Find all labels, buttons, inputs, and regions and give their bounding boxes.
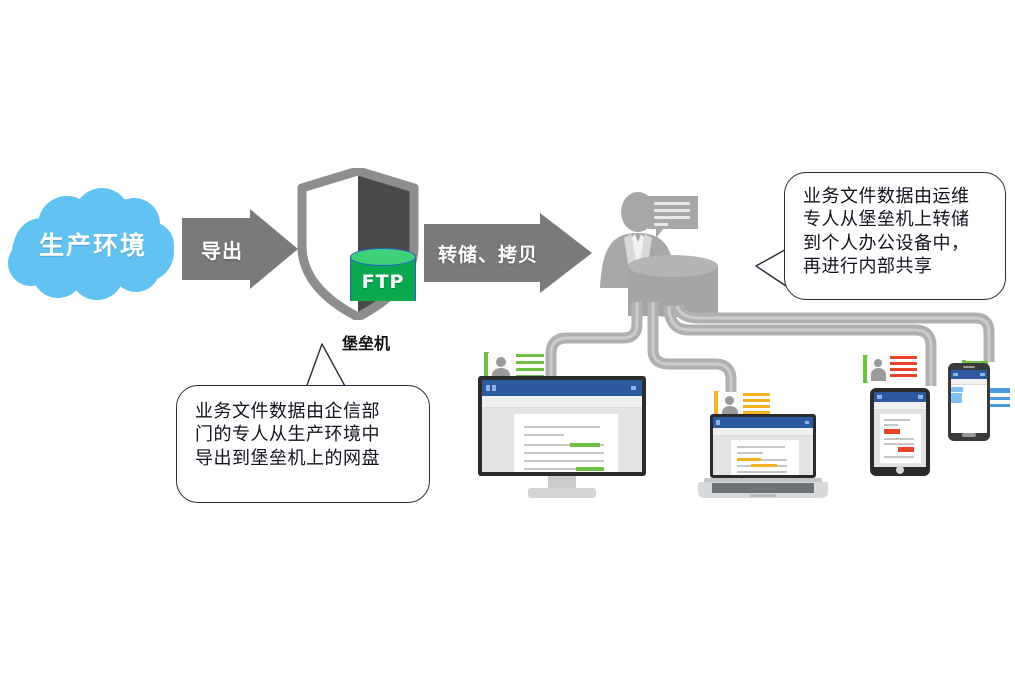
phone-screen bbox=[951, 370, 987, 433]
window-title-bar bbox=[713, 417, 813, 428]
tablet-bezel bbox=[870, 388, 930, 476]
phone-bezel bbox=[948, 363, 990, 441]
window-toolbar bbox=[713, 428, 813, 436]
tablet[interactable] bbox=[870, 388, 930, 476]
callout-line: 专人从堡垒机上转储 bbox=[803, 208, 993, 231]
callout-line: 门的专人从生产环境中 bbox=[195, 423, 413, 446]
arrow-export: 导出 bbox=[182, 218, 298, 280]
ftp-storage-icon: FTP bbox=[350, 248, 416, 310]
tablet-screen bbox=[874, 392, 926, 467]
document-page bbox=[514, 414, 618, 472]
diagram-title: 堡垒机文件转储共享流程图 bbox=[0, 0, 1, 1]
window-title-bar bbox=[874, 392, 926, 402]
phone-home-button[interactable] bbox=[962, 433, 976, 437]
laptop-screen bbox=[713, 417, 813, 475]
contact-card-red bbox=[863, 355, 917, 383]
window-content bbox=[874, 410, 926, 467]
window-title-bar bbox=[482, 380, 642, 396]
arrow-transfer-copy-label: 转储、拷贝 bbox=[424, 224, 552, 282]
diagram-canvas: 堡垒机文件转储共享流程图 生产环境 导出 FTP 堡垒机 bbox=[0, 0, 1015, 675]
window-toolbar bbox=[874, 402, 926, 410]
window-content bbox=[713, 436, 813, 475]
smartphone[interactable] bbox=[948, 363, 990, 441]
callout-line: 导出到堡垒机上的网盘 bbox=[195, 447, 413, 470]
laptop-keyboard[interactable] bbox=[712, 483, 814, 493]
laptop-bezel bbox=[710, 414, 816, 478]
phone-speaker bbox=[963, 366, 975, 368]
production-environment-label: 生产环境 bbox=[8, 188, 178, 300]
monitor-bezel bbox=[478, 376, 646, 476]
arrow-export-label: 导出 bbox=[182, 218, 262, 280]
callout-ops-share: 业务文件数据由运维 专人从堡垒机上转储 到个人办公设备中， 再进行内部共享 bbox=[784, 172, 1006, 300]
callout-line: 到个人办公设备中， bbox=[803, 232, 993, 255]
chat-content bbox=[951, 385, 987, 433]
callout-bastion-export: 业务文件数据由企信部 门的专人从生产环境中 导出到堡垒机上的网盘 bbox=[176, 385, 430, 503]
callout-line: 业务文件数据由运维 bbox=[803, 185, 993, 208]
laptop-trackpad[interactable] bbox=[750, 494, 776, 497]
window-toolbar bbox=[482, 396, 642, 408]
desktop-monitor[interactable] bbox=[478, 376, 646, 500]
monitor-stand-base bbox=[528, 488, 596, 498]
document-page bbox=[731, 440, 799, 475]
callout-line: 再进行内部共享 bbox=[803, 255, 993, 278]
callout-bastion-export-pointer bbox=[288, 338, 368, 390]
laptop[interactable] bbox=[698, 414, 828, 504]
document-page bbox=[880, 414, 921, 463]
monitor-screen bbox=[482, 380, 642, 472]
arrow-transfer-copy: 转储、拷贝 bbox=[424, 224, 594, 282]
speech-bubble-icon bbox=[648, 196, 698, 236]
window-content bbox=[482, 408, 642, 472]
tablet-home-button[interactable] bbox=[896, 466, 904, 474]
callout-line: 业务文件数据由企信部 bbox=[195, 400, 413, 423]
ftp-label: FTP bbox=[350, 262, 416, 302]
window-title-bar bbox=[951, 370, 987, 379]
